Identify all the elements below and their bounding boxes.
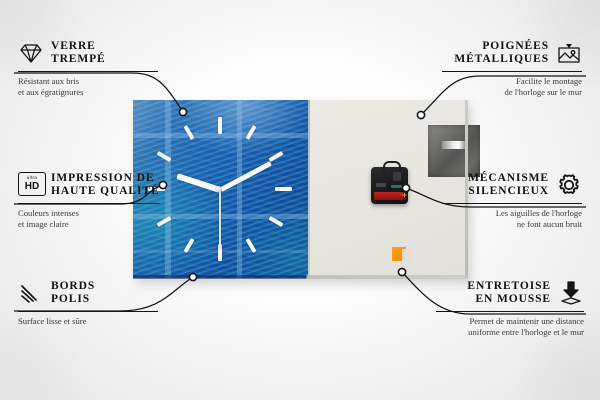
foam-spacer-pad: [392, 247, 406, 261]
clock-tick: [218, 117, 222, 134]
mechanism-hanger-loop: [383, 161, 401, 172]
feature-title: MÉCANISME SILENCIEUX: [468, 172, 549, 199]
mechanism-detail: [376, 183, 386, 187]
product-infographic: VERRE TREMPÉ Résistant aux bris et aux é…: [0, 0, 600, 400]
diamond-icon: [18, 40, 44, 66]
picture-frame-hanger-icon: [556, 40, 582, 66]
feature-title: POIGNÉES MÉTALLIQUES: [454, 40, 549, 67]
feature-divider: [442, 203, 582, 204]
hd-badge-main-text: HD: [25, 182, 39, 192]
feature-header: POIGNÉES MÉTALLIQUES: [442, 38, 582, 68]
clock-hand-hub: [216, 186, 221, 191]
feature-title: IMPRESSION DE HAUTE QUALITÉ: [51, 172, 160, 199]
clock-mechanism: [371, 167, 408, 204]
feature-divider: [18, 311, 158, 312]
feature-bords-polis: BORDS POLIS Surface lisse et sûre: [18, 278, 158, 327]
feature-subtitle: Facilite le montage de l'horloge sur le …: [442, 76, 582, 97]
feature-subtitle: Résistant aux bris et aux égratignures: [18, 76, 158, 97]
feature-title: VERRE TREMPÉ: [51, 40, 106, 67]
panel-bottom-edge: [133, 275, 467, 279]
feature-impression-haute-qualite: ultra HD IMPRESSION DE HAUTE QUALITÉ Cou…: [18, 170, 160, 229]
feature-header: BORDS POLIS: [18, 278, 158, 308]
feature-subtitle: Permet de maintenir une distance uniform…: [436, 316, 584, 337]
ultra-hd-icon: ultra HD: [18, 172, 44, 198]
feature-divider: [442, 71, 582, 72]
mechanism-detail: [391, 185, 402, 188]
feature-header: ENTRETOISE EN MOUSSE: [436, 278, 584, 308]
feature-entretoise-en-mousse: ENTRETOISE EN MOUSSE Permet de maintenir…: [436, 278, 584, 337]
clock-second-hand: [219, 190, 221, 250]
feature-header: ultra HD IMPRESSION DE HAUTE QUALITÉ: [18, 170, 160, 200]
mechanism-detail: [393, 172, 401, 181]
feature-subtitle: Couleurs intenses et image claire: [18, 208, 160, 229]
feature-header: MÉCANISME SILENCIEUX: [442, 170, 582, 200]
polished-edges-icon: [18, 280, 44, 306]
feature-poignees-metalliques: POIGNÉES MÉTALLIQUES Facilite le montage…: [442, 38, 582, 97]
panel-seam: [308, 100, 310, 278]
product-image: [133, 100, 467, 278]
foam-spacer-arrow-icon: [558, 280, 584, 306]
feature-divider: [18, 203, 160, 204]
feature-divider: [18, 71, 158, 72]
feature-title: BORDS POLIS: [51, 280, 95, 307]
clock-tick: [275, 187, 292, 191]
gear-icon: [556, 172, 582, 198]
feature-subtitle: Surface lisse et sûre: [18, 316, 158, 327]
feature-subtitle: Les aiguilles de l'horloge ne font aucun…: [442, 208, 582, 229]
feature-divider: [436, 311, 584, 312]
mechanism-battery: [374, 192, 403, 200]
feature-title: ENTRETOISE EN MOUSSE: [467, 280, 551, 307]
feature-verre-trempe: VERRE TREMPÉ Résistant aux bris et aux é…: [18, 38, 158, 97]
feature-mecanisme-silencieux: MÉCANISME SILENCIEUX Les aiguilles de l'…: [442, 170, 582, 229]
feature-header: VERRE TREMPÉ: [18, 38, 158, 68]
hd-badge: ultra HD: [18, 172, 46, 196]
